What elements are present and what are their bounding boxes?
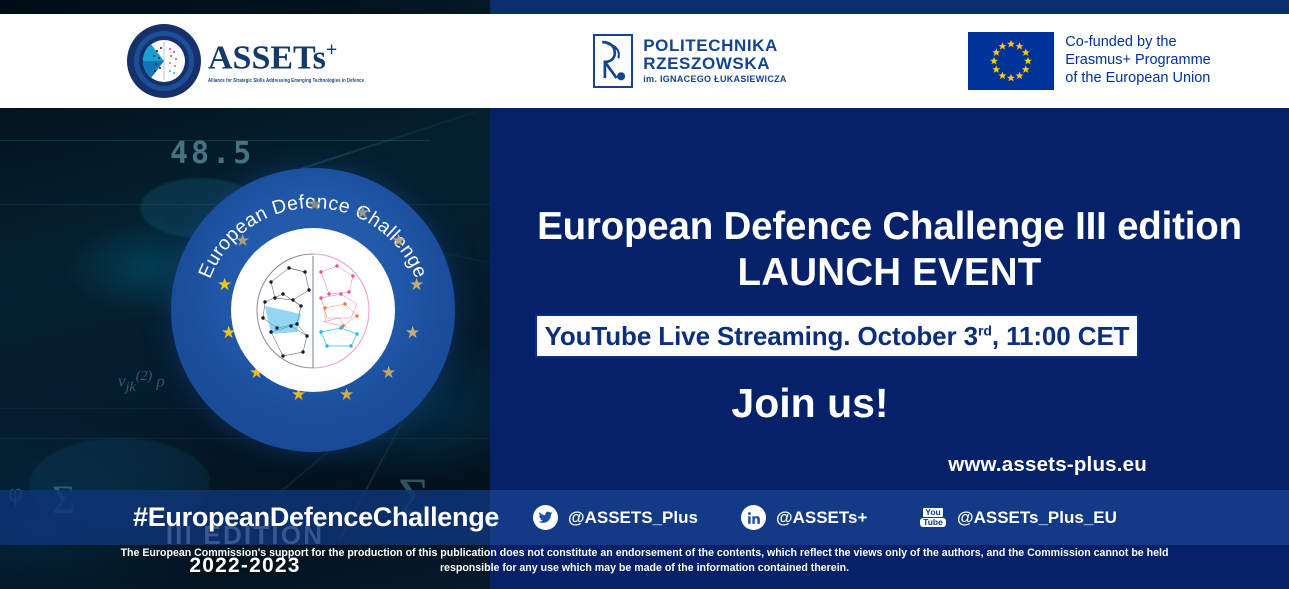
assets-logo-slot: ASSETs+ Alliance for Strategic Skills Ad… <box>0 14 490 108</box>
campaign-hashtag: #EuropeanDefenceChallenge <box>133 490 499 545</box>
headline-line-2: LAUNCH EVENT <box>490 250 1289 296</box>
eu-funding-text: Co-funded by the Erasmus+ Programme of t… <box>1065 34 1210 87</box>
social-account-linkedin[interactable]: @ASSETs+ <box>741 490 867 545</box>
event-poster: ASSETs+ Alliance for Strategic Skills Ad… <box>0 0 1289 589</box>
prz-wordmark: POLITECHNIKA RZESZOWSKA im. IGNACEGO ŁUK… <box>643 37 787 85</box>
badge-star: ★ <box>339 386 354 403</box>
youtube-handle: @ASSETs_Plus_EU <box>957 508 1117 528</box>
badge-star: ★ <box>391 232 406 249</box>
eu-flag-icon <box>968 32 1054 90</box>
linkedin-icon <box>741 505 766 530</box>
assets-name: ASSETs+ <box>208 40 337 75</box>
streaming-date-prefix: YouTube Live Streaming. October 3 <box>545 321 978 351</box>
eu-text-line-1: Co-funded by the <box>1065 34 1210 52</box>
background-number-decoration: 48.5 <box>170 136 254 171</box>
assets-plus-symbol: + <box>326 39 337 61</box>
twitter-icon <box>533 505 558 530</box>
youtube-icon-tube: Tube <box>920 518 946 527</box>
prz-line-3: im. IGNACEGO ŁUKASIEWICZA <box>643 75 787 85</box>
top-accent-strip-right <box>490 0 1289 14</box>
streaming-date-banner: YouTube Live Streaming. October 3rd, 11:… <box>535 314 1139 358</box>
background-symbol-formula: vjk(2) ρ <box>118 368 165 396</box>
eu-text-line-3: of the European Union <box>1065 70 1210 88</box>
assets-brain-mark-icon <box>126 23 202 99</box>
eu-text-line-2: Erasmus+ Programme <box>1065 52 1210 70</box>
prz-line-2: RZESZOWSKA <box>643 55 787 73</box>
website-url[interactable]: www.assets-plus.eu <box>948 453 1147 477</box>
badge-star: ★ <box>355 204 370 221</box>
streaming-date-suffix: , 11:00 CET <box>992 321 1130 351</box>
badge-star: ★ <box>235 232 250 249</box>
badge-brain-graphic-icon <box>231 228 395 392</box>
background-glow-line-1 <box>0 140 430 141</box>
assets-tagline: Alliance for Strategic Skills Addressing… <box>208 78 364 83</box>
social-account-youtube[interactable]: You Tube @ASSETs_Plus_EU <box>919 490 1117 545</box>
challenge-badge: European Defence Challenge ★ ★ ★ ★ ★ ★ ★… <box>171 168 455 452</box>
youtube-icon: You Tube <box>919 505 947 530</box>
badge-star: ★ <box>307 196 322 213</box>
eu-logo-slot: Co-funded by the Erasmus+ Programme of t… <box>890 14 1289 108</box>
join-us-callout: Join us! <box>490 380 1130 427</box>
badge-star: ★ <box>409 276 424 293</box>
prz-line-1: POLITECHNIKA <box>643 37 787 55</box>
prz-emblem-icon <box>593 34 633 88</box>
linkedin-handle: @ASSETs+ <box>776 508 867 528</box>
headline-line-1: European Defence Challenge III edition <box>490 204 1289 250</box>
youtube-icon-you: You <box>923 508 942 517</box>
social-account-twitter[interactable]: @ASSETS_Plus <box>533 490 698 545</box>
event-headline: European Defence Challenge III edition L… <box>490 204 1289 296</box>
badge-star: ★ <box>217 276 232 293</box>
logo-header: ASSETs+ Alliance for Strategic Skills Ad… <box>0 14 1289 108</box>
social-media-bar: #EuropeanDefenceChallenge @ASSETS_Plus @… <box>0 490 1289 545</box>
badge-star: ★ <box>405 324 420 341</box>
badge-star: ★ <box>381 364 396 381</box>
assets-wordmark: ASSETs+ Alliance for Strategic Skills Ad… <box>208 40 364 83</box>
background-ray-1 <box>300 108 490 170</box>
politechnika-rzeszowska-logo: POLITECHNIKA RZESZOWSKA im. IGNACEGO ŁUK… <box>593 34 787 88</box>
assets-plus-logo: ASSETs+ Alliance for Strategic Skills Ad… <box>126 23 364 99</box>
twitter-handle: @ASSETS_Plus <box>568 508 698 528</box>
streaming-date-text: YouTube Live Streaming. October 3rd, 11:… <box>545 321 1130 352</box>
eu-disclaimer-text: The European Commission's support for th… <box>0 546 1289 577</box>
streaming-date-ordinal: rd <box>978 322 992 338</box>
assets-name-text: ASSETs <box>208 39 326 76</box>
partner-logo-slot: POLITECHNIKA RZESZOWSKA im. IGNACEGO ŁUK… <box>490 14 890 108</box>
erasmus-cofunding-logo: Co-funded by the Erasmus+ Programme of t… <box>968 32 1210 90</box>
